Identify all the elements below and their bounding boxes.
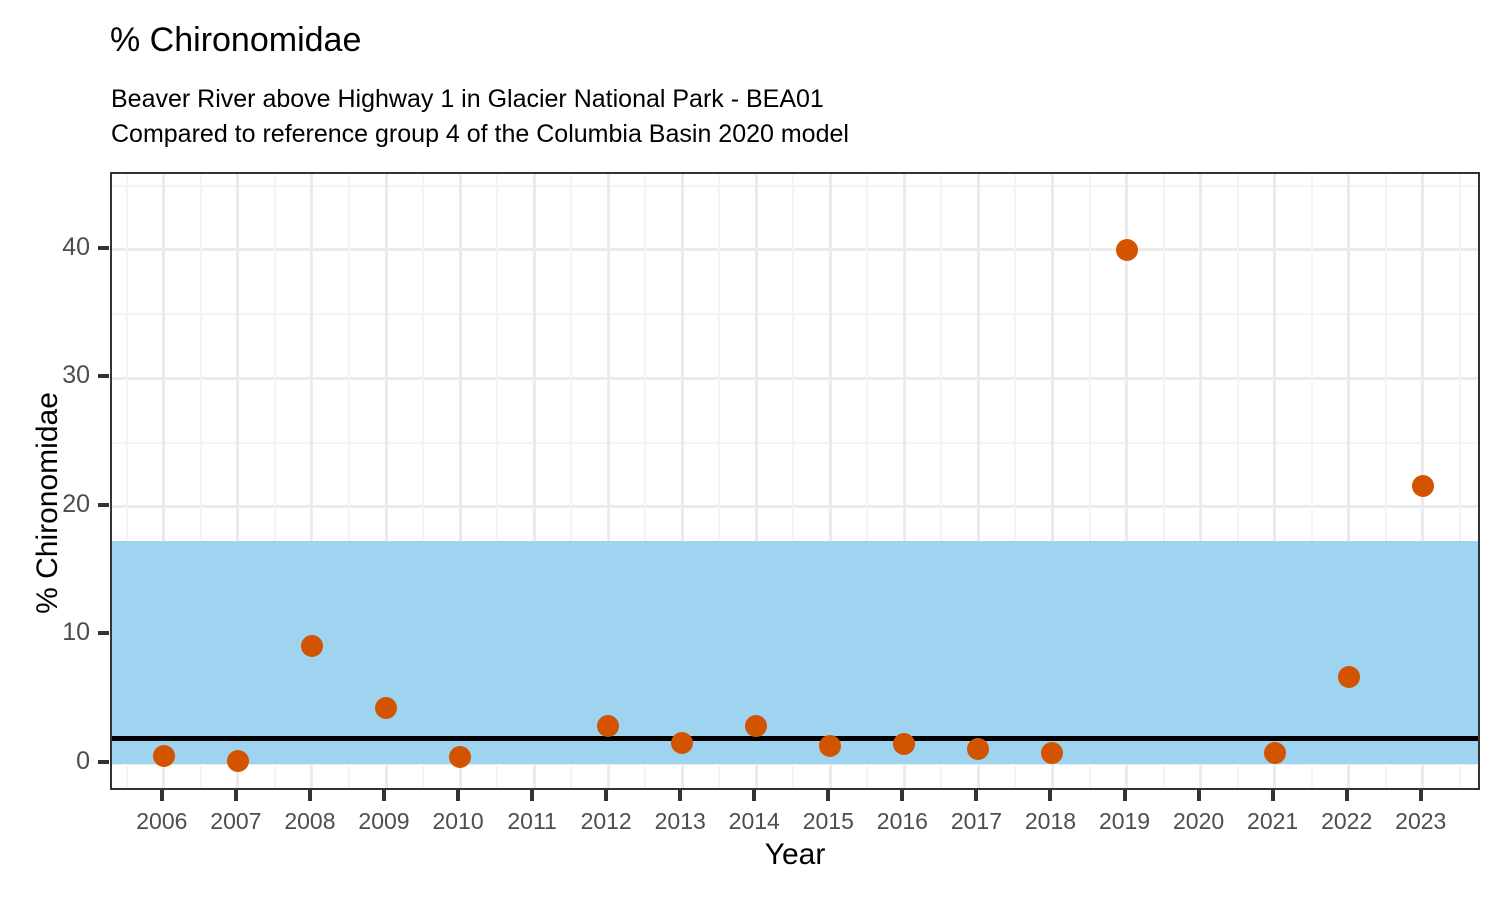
x-axis-tick xyxy=(974,790,978,801)
x-axis-tick xyxy=(826,790,830,801)
data-point[interactable] xyxy=(227,750,249,772)
data-point[interactable] xyxy=(1116,239,1138,261)
x-axis-tick xyxy=(1048,790,1052,801)
plot-panel xyxy=(110,172,1480,790)
data-point[interactable] xyxy=(745,715,767,737)
x-axis-tick xyxy=(1197,790,1201,801)
data-point[interactable] xyxy=(301,635,323,657)
x-axis-tick xyxy=(234,790,238,801)
x-axis-tick xyxy=(530,790,534,801)
data-point[interactable] xyxy=(1338,666,1360,688)
x-axis-tick xyxy=(1419,790,1423,801)
y-axis-tick xyxy=(98,760,109,764)
y-axis-tick xyxy=(98,631,109,635)
y-axis-tick-label: 10 xyxy=(10,620,90,645)
y-axis-tick xyxy=(98,246,109,250)
y-axis-tick-label: 0 xyxy=(10,749,90,774)
x-axis-tick xyxy=(1271,790,1275,801)
chart-subtitle-line-1: Beaver River above Highway 1 in Glacier … xyxy=(111,82,849,117)
chart-subtitle-line-2: Compared to reference group 4 of the Col… xyxy=(111,117,849,152)
y-axis-tick xyxy=(98,503,109,507)
data-point[interactable] xyxy=(1412,475,1434,497)
x-axis-tick xyxy=(900,790,904,801)
y-axis-tick-label: 40 xyxy=(10,235,90,260)
chart-root: % Chironomidae Beaver River above Highwa… xyxy=(0,0,1500,900)
x-axis-tick xyxy=(1345,790,1349,801)
y-axis-tick-label: 30 xyxy=(10,363,90,388)
y-axis-tick-label: 20 xyxy=(10,492,90,517)
data-point[interactable] xyxy=(1264,742,1286,764)
x-axis-tick xyxy=(382,790,386,801)
x-axis-tick xyxy=(1123,790,1127,801)
x-axis-tick xyxy=(308,790,312,801)
y-axis-tick xyxy=(98,374,109,378)
reference-line xyxy=(112,736,1478,741)
x-axis-tick xyxy=(160,790,164,801)
x-axis-title: Year xyxy=(110,838,1480,872)
x-axis-tick-label: 2023 xyxy=(1361,808,1481,834)
x-axis-tick xyxy=(678,790,682,801)
x-axis-tick xyxy=(604,790,608,801)
x-axis-tick xyxy=(456,790,460,801)
data-point[interactable] xyxy=(153,745,175,767)
chart-subtitle: Beaver River above Highway 1 in Glacier … xyxy=(111,82,849,152)
x-axis-tick xyxy=(752,790,756,801)
chart-title: % Chironomidae xyxy=(110,18,361,62)
